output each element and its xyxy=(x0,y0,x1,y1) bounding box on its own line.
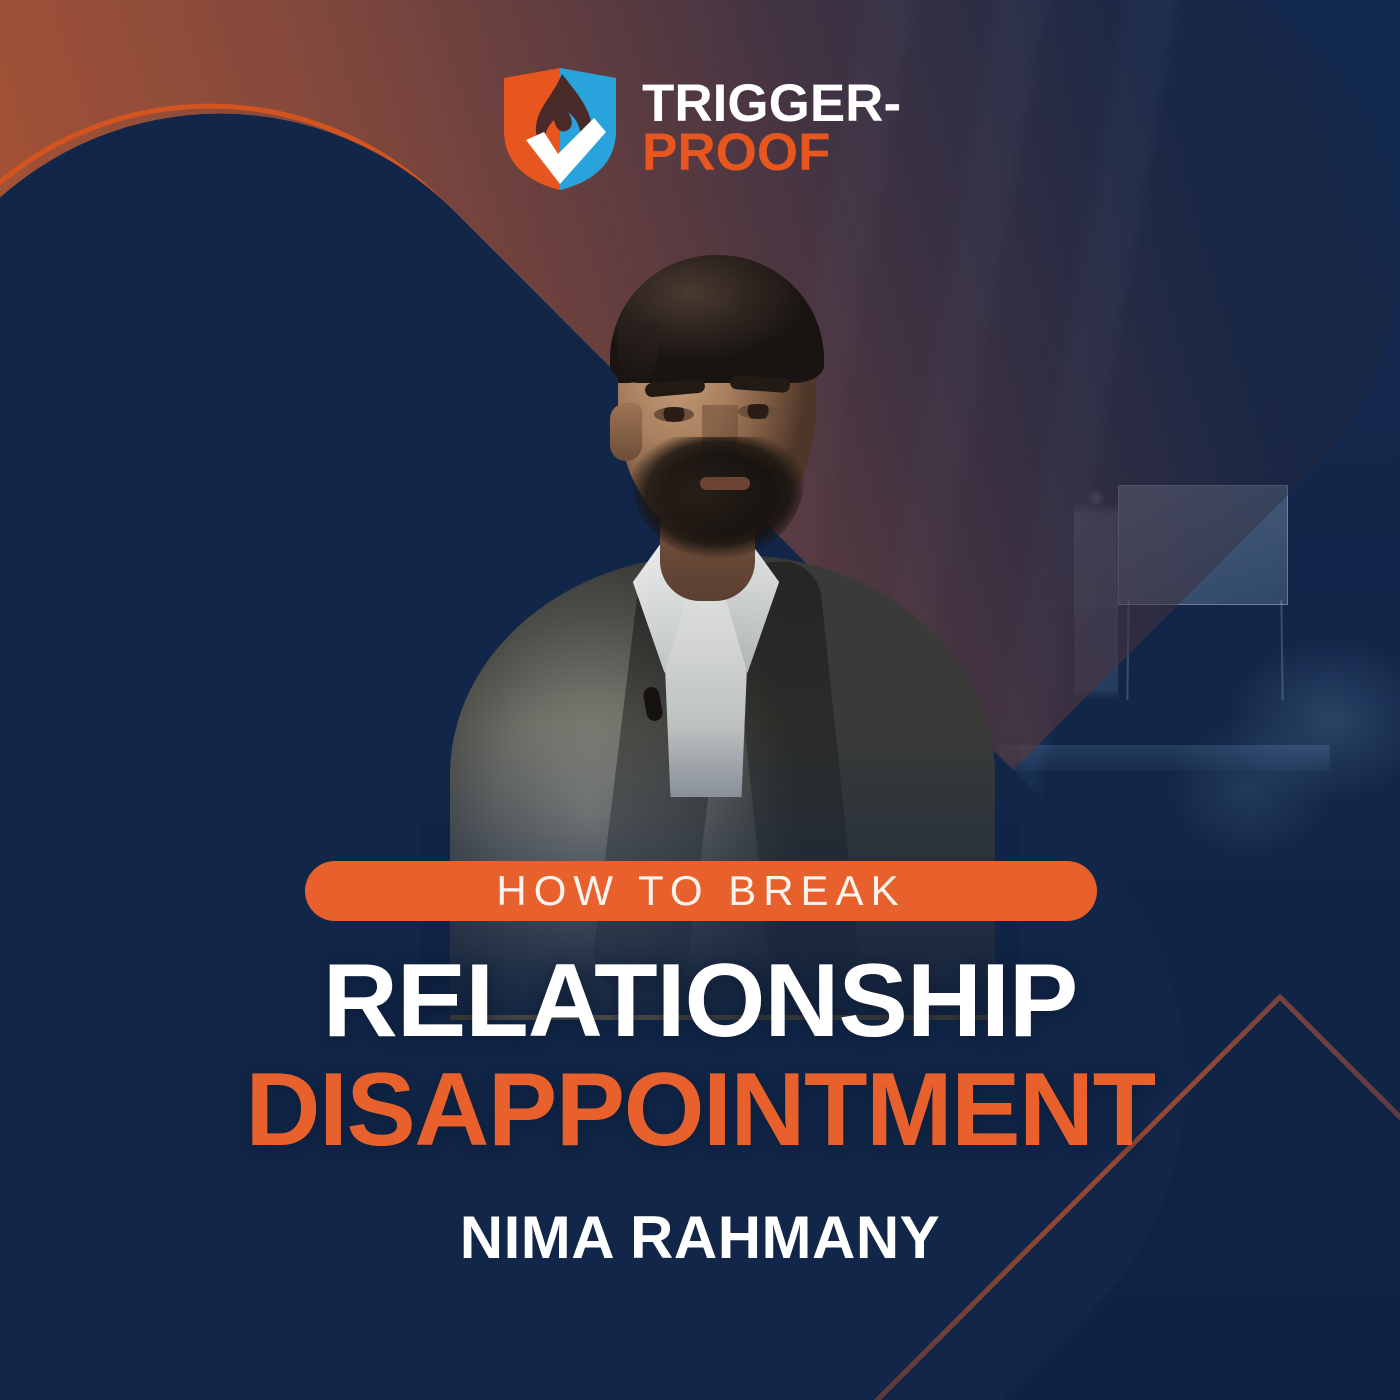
episode-title: RELATIONSHIP DISAPPOINTMENT xyxy=(0,948,1400,1165)
speaker-name: NIMA RAHMANY xyxy=(0,1203,1400,1272)
brand-logo[interactable]: TRIGGER- PROOF xyxy=(500,66,901,192)
brand-wordmark: TRIGGER- PROOF xyxy=(642,80,901,178)
shield-flame-check-icon xyxy=(500,66,620,192)
accent-arc-bottom-right-mask xyxy=(0,0,1400,1400)
episode-title-line1: RELATIONSHIP xyxy=(0,948,1400,1055)
podcast-cover: TRIGGER- PROOF HOW TO BREAK RELATIONSHIP… xyxy=(0,0,1400,1400)
eyebrow-pill: HOW TO BREAK xyxy=(305,861,1097,921)
eyebrow-text: HOW TO BREAK xyxy=(496,867,905,915)
brand-wordmark-line1: TRIGGER- xyxy=(642,80,901,129)
episode-title-line2: DISAPPOINTMENT xyxy=(0,1055,1400,1165)
brand-wordmark-line2: PROOF xyxy=(642,129,901,178)
